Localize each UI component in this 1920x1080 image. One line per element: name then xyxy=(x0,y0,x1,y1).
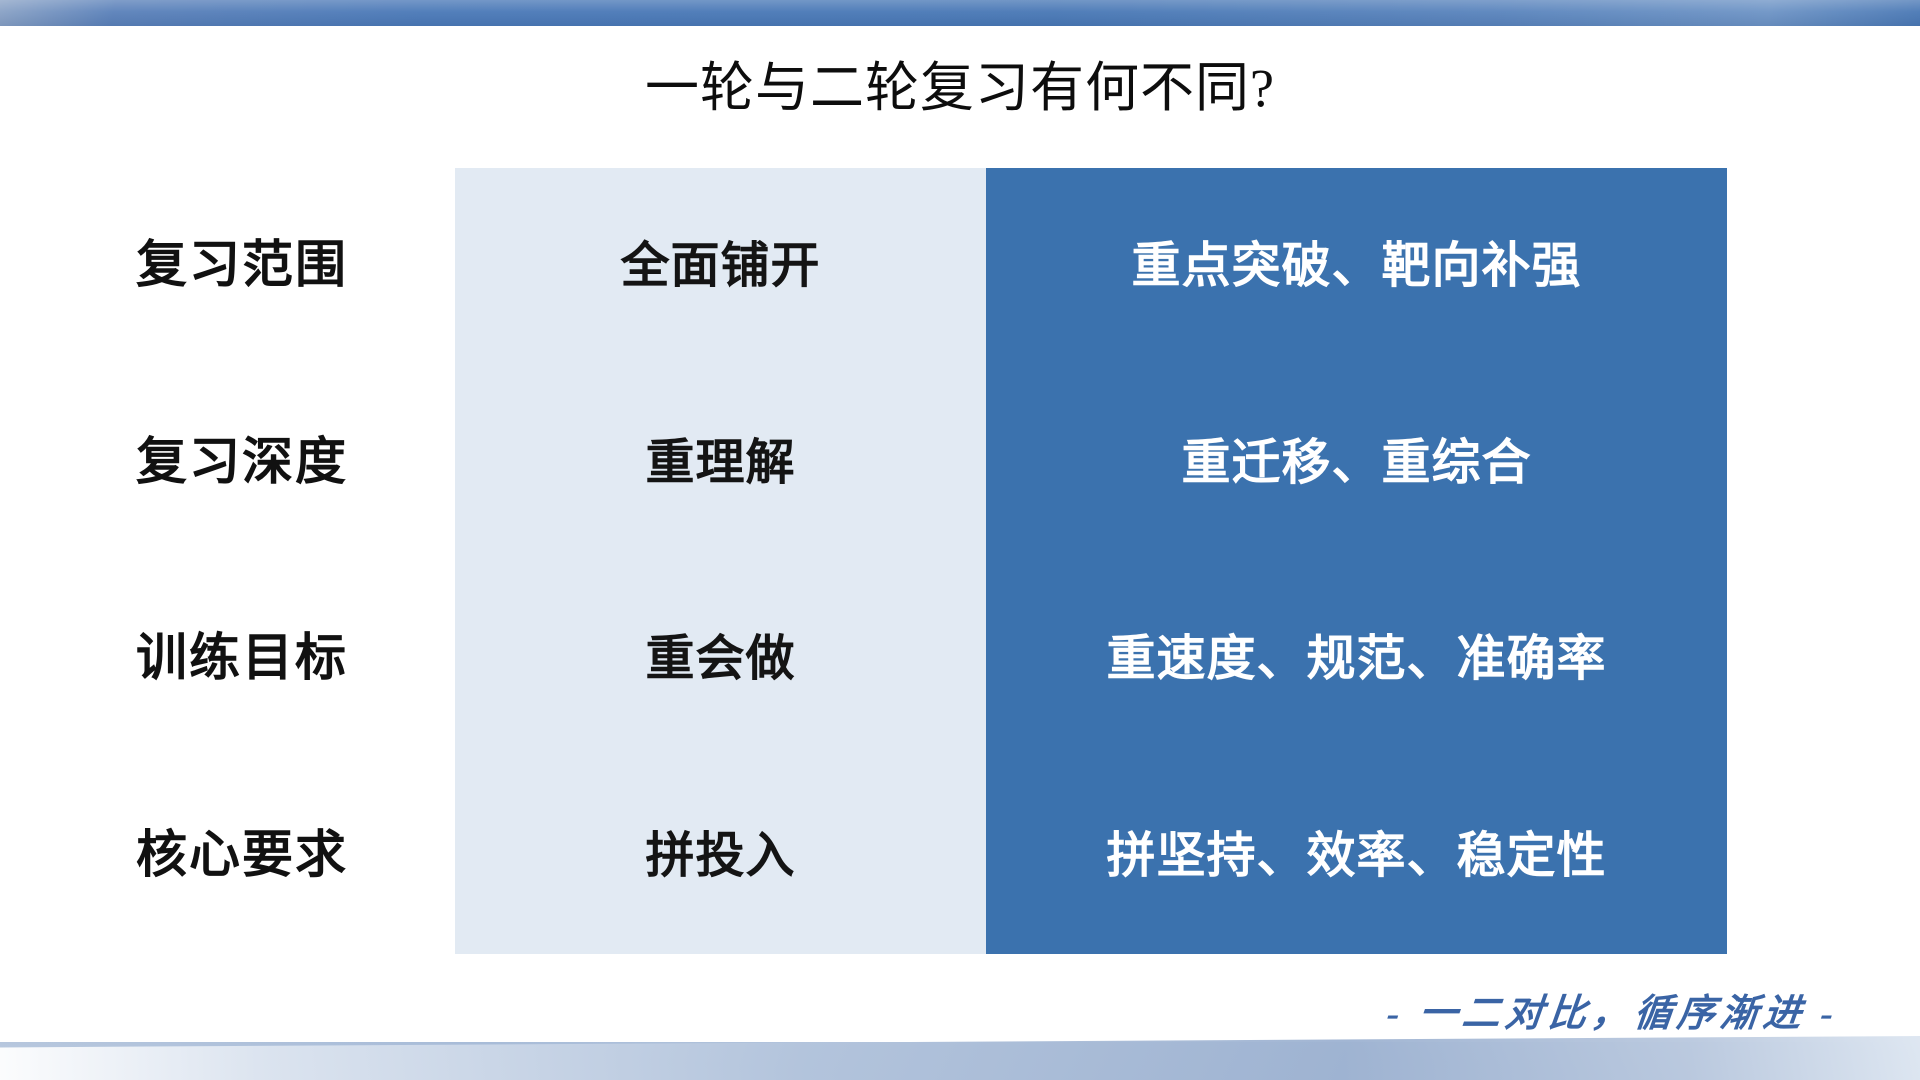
table-row: 复习范围 全面铺开 重点突破、靶向补强 xyxy=(0,168,1920,365)
comparison-table: 复习范围 全面铺开 重点突破、靶向补强 复习深度 重理解 重迁移、重综合 训练目… xyxy=(0,168,1920,958)
slide-canvas: 一轮与二轮复习有何不同? 复习范围 全面铺开 重点突破、靶向补强 复习深度 重理… xyxy=(0,0,1920,1080)
cell-second-round: 重速度、规范、准确率 xyxy=(986,632,1727,686)
top-decorative-bar xyxy=(0,0,1920,26)
footer-note: - 一二对比，循序渐进 - xyxy=(1384,992,1840,1036)
cell-second-round: 重点突破、靶向补强 xyxy=(986,239,1727,293)
row-label: 复习深度 xyxy=(0,435,455,491)
cell-first-round: 重会做 xyxy=(455,632,986,686)
table-row: 复习深度 重理解 重迁移、重综合 xyxy=(0,365,1920,562)
row-label: 训练目标 xyxy=(0,631,455,687)
cell-first-round: 重理解 xyxy=(455,436,986,490)
row-label: 核心要求 xyxy=(0,828,455,884)
table-row: 训练目标 重会做 重速度、规范、准确率 xyxy=(0,561,1920,758)
page-title: 一轮与二轮复习有何不同? xyxy=(0,58,1920,118)
cell-first-round: 全面铺开 xyxy=(455,239,986,293)
cell-second-round: 重迁移、重综合 xyxy=(986,436,1727,490)
table-row: 核心要求 拼投入 拼坚持、效率、稳定性 xyxy=(0,758,1920,955)
cell-second-round: 拼坚持、效率、稳定性 xyxy=(986,829,1727,883)
row-label: 复习范围 xyxy=(0,238,455,294)
top-bar-sheen xyxy=(0,0,1920,26)
cell-first-round: 拼投入 xyxy=(455,829,986,883)
table-body: 复习范围 全面铺开 重点突破、靶向补强 复习深度 重理解 重迁移、重综合 训练目… xyxy=(0,168,1920,954)
